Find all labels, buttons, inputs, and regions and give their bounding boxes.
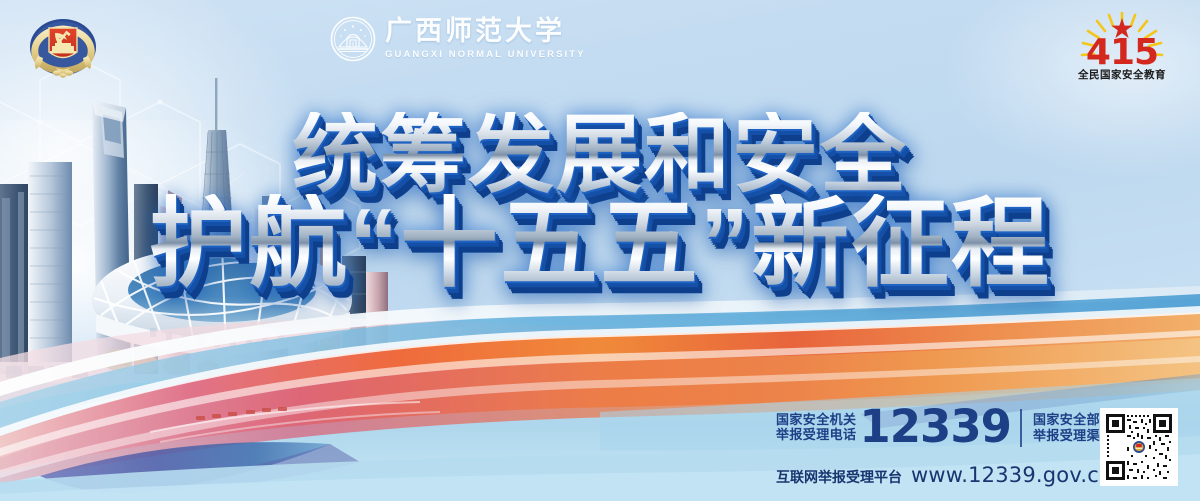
hotline-number: 12339 — [859, 408, 1011, 447]
hotline-label-line1: 国家安全机关 — [776, 413, 856, 428]
university-logo: 广西师范大学 GUANGXI NORMAL UNIVERSITY — [330, 16, 586, 62]
logo-415-number: 415 — [1086, 32, 1158, 73]
platform-label: 互联网举报受理平台 — [776, 467, 902, 487]
university-crest-icon — [330, 16, 376, 62]
website-block: 互联网举报受理平台 www.12339.gov.cn — [776, 463, 1112, 487]
vertical-divider — [1020, 409, 1022, 447]
hotline-label-line2: 举报受理电话 — [776, 428, 856, 443]
logo-415-caption: 全民国家安全教育 — [1077, 68, 1166, 81]
national-security-emblem — [20, 16, 106, 78]
security-education-day-logo: 415 全民国家安全教育 — [1066, 10, 1178, 82]
wechat-qr-code[interactable] — [1100, 408, 1178, 486]
reporting-info-footer: 国家安全机关 举报受理电话 12339 国家安全部微信公众号 举报受理渠道 ▶ … — [776, 407, 1186, 493]
university-name-cn: 广西师范大学 — [385, 18, 586, 45]
security-education-banner: 广西师范大学 GUANGXI NORMAL UNIVERSITY 415 全民国… — [0, 0, 1200, 501]
website-url[interactable]: www.12339.gov.cn — [911, 463, 1112, 487]
university-name-en: GUANGXI NORMAL UNIVERSITY — [385, 50, 586, 60]
